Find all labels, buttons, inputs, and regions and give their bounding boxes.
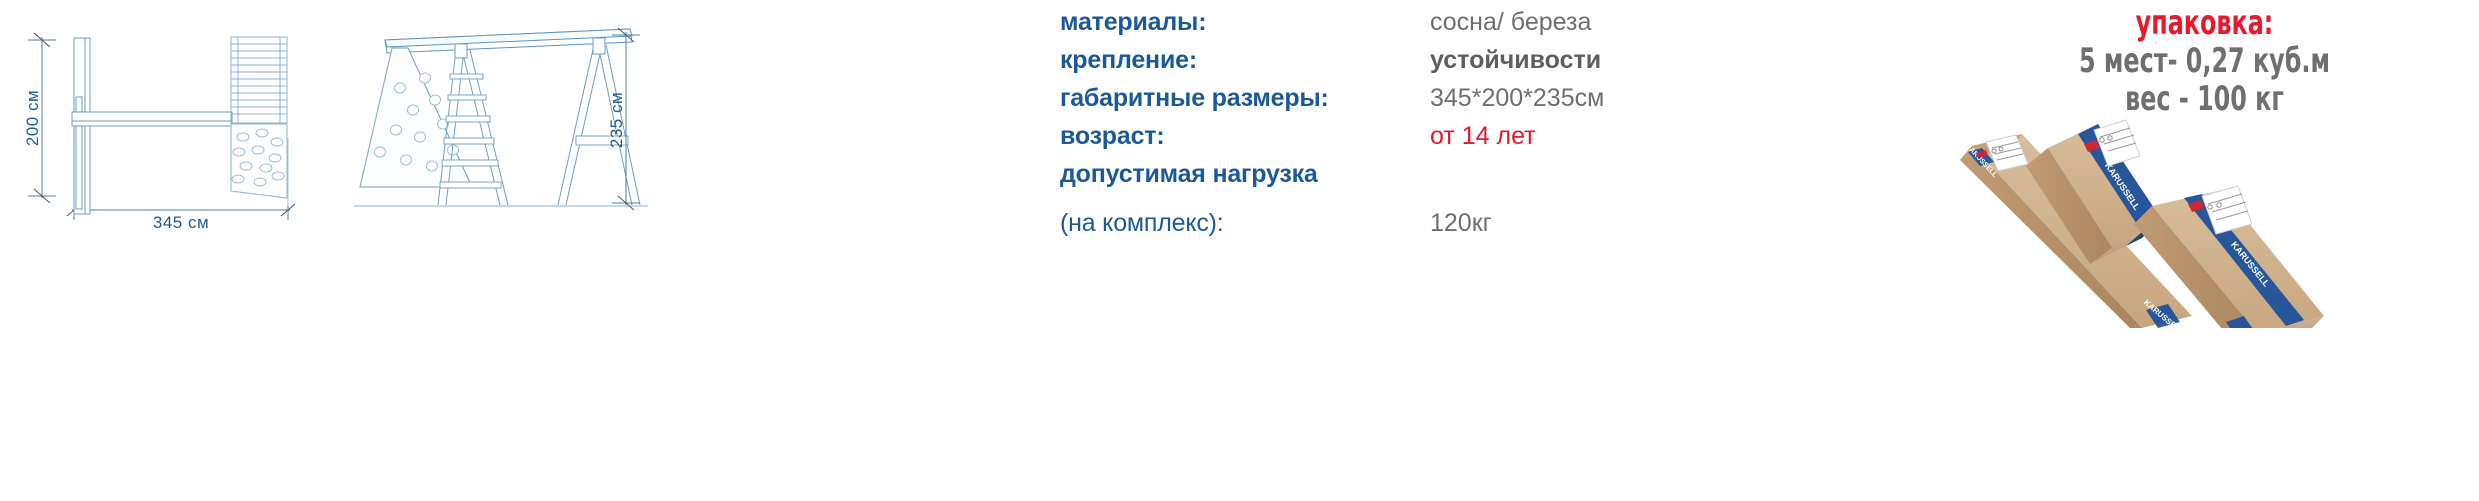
hold	[269, 154, 281, 162]
spec-label-age: возраст:	[1060, 122, 1430, 160]
hold	[252, 146, 264, 154]
hold	[260, 164, 272, 172]
spec-row: материалы: сосна/ береза	[1060, 8, 1780, 46]
hold	[233, 148, 245, 156]
packaging-block: упаковка: 5 мест- 0,27 куб.м вес - 100 к…	[1930, 0, 2479, 330]
spec-row: допустимая нагрузка	[1060, 160, 1780, 209]
hold	[240, 162, 252, 170]
specification-table: материалы: сосна/ береза крепление: усто…	[1060, 8, 1780, 288]
spec-value-age: от 14 лет	[1430, 122, 1780, 160]
spec-value-materials: сосна/ береза	[1430, 8, 1780, 46]
dimension-label-height: 235 см	[607, 92, 626, 148]
spec-row: крепление: устойчивости	[1060, 46, 1780, 84]
front-view-drawing: 235 см	[340, 0, 1040, 250]
spec-value-dimensions: 345*200*235см	[1430, 84, 1780, 122]
spec-value-load: 120кг	[1430, 209, 1780, 245]
ladder-grid	[231, 37, 287, 123]
spec-label-load-note: (на комплекс):	[1060, 209, 1430, 245]
a-frame-right	[558, 38, 640, 205]
hold	[232, 175, 244, 183]
spec-value-load-empty	[1430, 160, 1780, 209]
hold	[272, 172, 284, 180]
hold	[256, 129, 268, 137]
spec-row: габаритные размеры: 345*200*235см	[1060, 84, 1780, 122]
spec-value-mounting: устойчивости	[1430, 46, 1780, 84]
spec-label-dimensions: габаритные размеры:	[1060, 84, 1430, 122]
spec-row: (на комплекс): 120кг	[1060, 209, 1780, 245]
hold	[254, 178, 266, 186]
climbing-wall-plan	[231, 124, 287, 198]
packaging-places: 5 мест- 0,27 куб.м	[1990, 42, 2418, 80]
dimension-label-height: 200 см	[23, 90, 42, 146]
packaging-illustration: KARUSSELL	[1930, 108, 2479, 328]
packaging-text: упаковка: 5 мест- 0,27 куб.м вес - 100 к…	[1930, 0, 2479, 118]
product-spec-banner: 200 см 345 см	[0, 0, 2479, 501]
spec-row: возраст: от 14 лет	[1060, 122, 1780, 160]
packaging-title: упаковка:	[1990, 6, 2418, 42]
top-view-drawing: 200 см 345 см	[0, 0, 340, 250]
hold	[271, 138, 283, 146]
hold	[237, 133, 249, 141]
spec-label-load: допустимая нагрузка	[1060, 160, 1430, 209]
spec-label-mounting: крепление:	[1060, 46, 1430, 84]
dimension-label-width: 345 см	[153, 213, 209, 232]
spec-label-materials: материалы:	[1060, 8, 1430, 46]
